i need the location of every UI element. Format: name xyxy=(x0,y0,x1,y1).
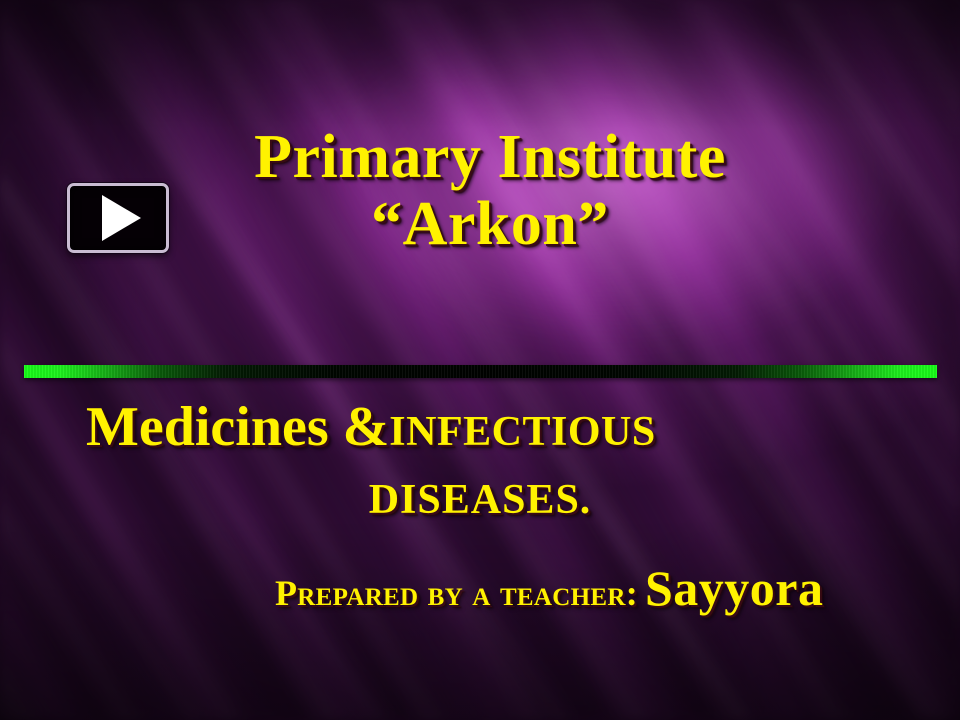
title-line-primary: Primary Institute xyxy=(170,126,810,189)
presentation-slide: Primary Institute “Arkon” Medicines &Inf… xyxy=(0,0,960,720)
subject-heading-line-2: Diseases. xyxy=(0,476,960,524)
divider-bar-texture xyxy=(24,365,937,378)
title-line-institute-name: “Arkon” xyxy=(170,193,810,256)
subject-word-medicines: Medicines & xyxy=(86,396,389,458)
divider-bar xyxy=(24,365,937,378)
subject-word-infectious: Infectious xyxy=(389,409,655,455)
play-button[interactable] xyxy=(67,183,169,253)
subject-heading-line-1: Medicines &Infectious xyxy=(86,395,656,459)
credit-prefix-label: Prepared by a teacher: xyxy=(275,573,638,613)
page-title: Primary Institute “Arkon” xyxy=(170,126,810,256)
play-triangle-icon xyxy=(102,195,141,241)
credit-author-name: Sayyora xyxy=(638,560,824,616)
credit-line: Prepared by a teacher:Sayyora xyxy=(275,559,823,617)
